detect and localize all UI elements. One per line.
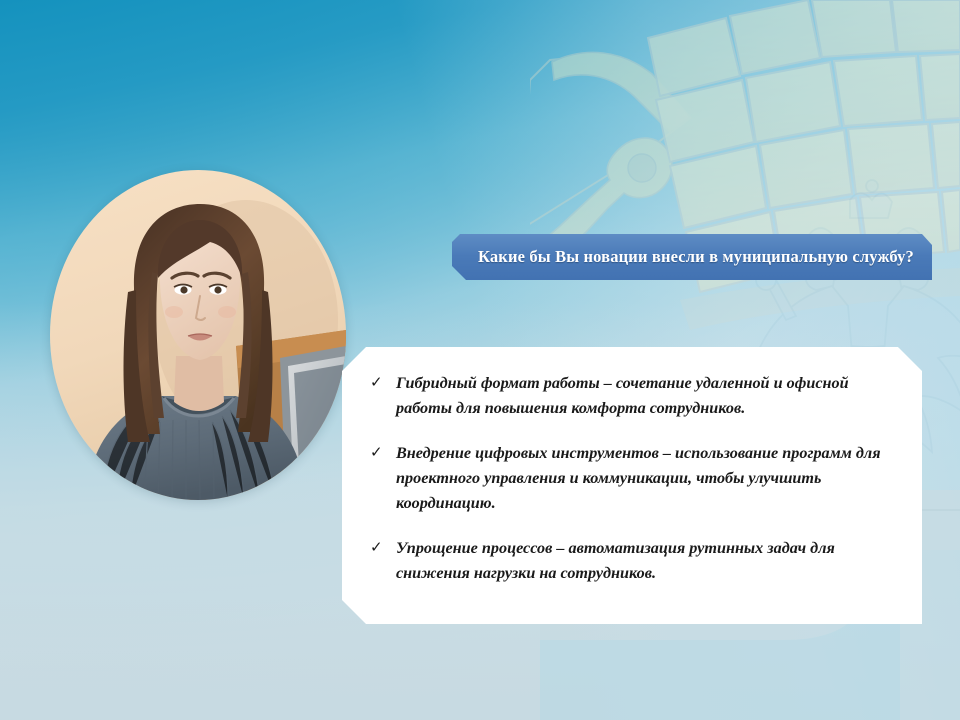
- list-item: ✓ Внедрение цифровых инструментов – испо…: [366, 441, 906, 516]
- list-item: ✓ Упрощение процессов – автоматизация ру…: [366, 536, 906, 586]
- slide-question-title: Какие бы Вы новации внесли в муниципальн…: [452, 247, 914, 267]
- checkmark-icon: ✓: [366, 441, 396, 516]
- list-item: ✓ Гибридный формат работы – сочетание уд…: [366, 371, 906, 421]
- slide-question-banner: Какие бы Вы новации внесли в муниципальн…: [452, 234, 932, 280]
- checkmark-icon: ✓: [366, 371, 396, 421]
- speaker-portrait-photo: [50, 170, 346, 500]
- bullet-text: Внедрение цифровых инструментов – исполь…: [396, 441, 906, 516]
- slide-content-card: ✓ Гибридный формат работы – сочетание уд…: [342, 347, 922, 624]
- checkmark-icon: ✓: [366, 536, 396, 586]
- bullet-text: Гибридный формат работы – сочетание удал…: [396, 371, 906, 421]
- bullet-list: ✓ Гибридный формат работы – сочетание уд…: [366, 371, 906, 586]
- presentation-slide: Какие бы Вы новации внесли в муниципальн…: [0, 0, 960, 720]
- bullet-text: Упрощение процессов – автоматизация рути…: [396, 536, 906, 586]
